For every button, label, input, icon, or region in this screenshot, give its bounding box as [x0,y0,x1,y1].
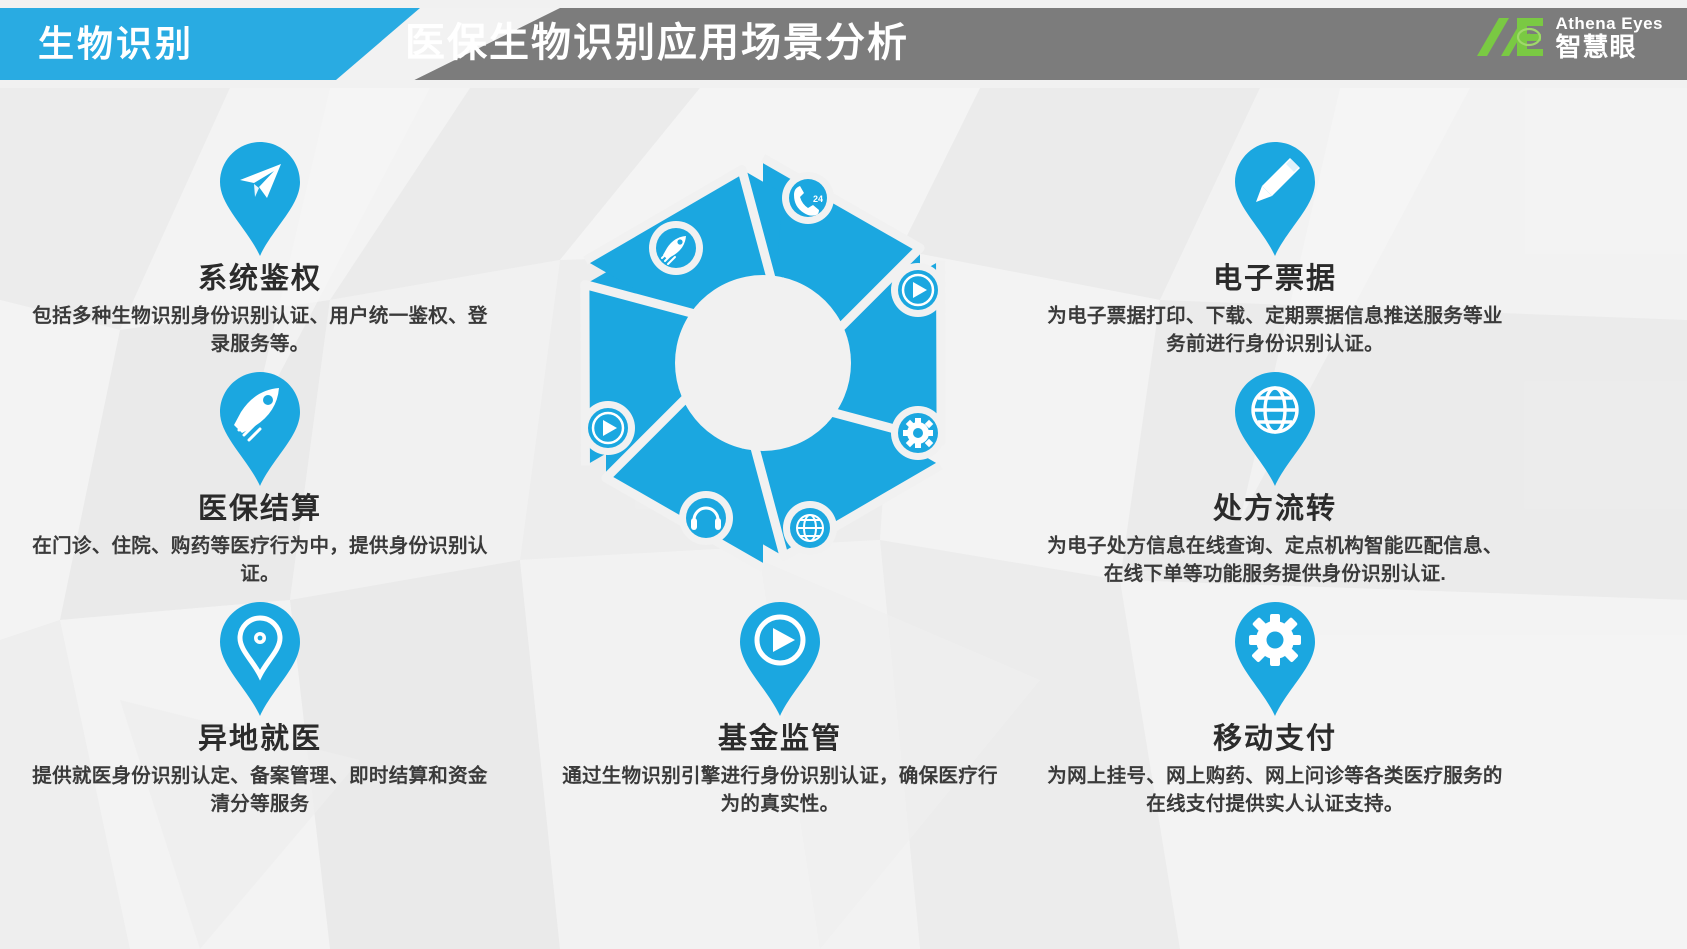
ae-logo-icon [1473,14,1547,60]
paper-plane-icon [217,140,303,258]
phone-24h-icon: 24 [782,172,834,224]
item-desc: 包括多种生物识别身份识别认证、用户统一鉴权、登录服务等。 [30,302,490,358]
item-title: 医保结算 [30,490,490,528]
gear-icon [891,406,945,460]
rocket-icon [649,221,703,275]
logo-en-label: Athena Eyes [1555,15,1663,32]
scene-item-invoice[interactable]: 电子票据 为电子票据打印、下载、定期票据信息推送服务等业务前进行身份识别认证。 [1040,140,1510,358]
play-circle-icon [737,600,823,718]
scene-item-remote[interactable]: 异地就医 提供就医身份识别认定、备案管理、即时结算和资金清分等服务 [30,600,490,818]
item-title: 处方流转 [1040,490,1510,528]
svg-text:24: 24 [813,194,823,204]
scene-item-settle[interactable]: 医保结算 在门诊、住院、购药等医疗行为中，提供身份识别认证。 [30,370,490,588]
scene-item-pay[interactable]: 移动支付 为网上挂号、网上购药、网上问诊等各类医疗服务的在线支付提供实人认证支持… [1040,600,1510,818]
item-title: 异地就医 [30,720,490,758]
scene-item-fund[interactable]: 基金监管 通过生物识别引擎进行身份识别认证，确保医疗行为的真实性。 [560,600,1000,818]
slide-header: 生物识别 医保生物识别应用场景分析 Athena Eyes 智慧眼 [0,0,1687,88]
item-title: 移动支付 [1040,720,1510,758]
item-desc: 在门诊、住院、购药等医疗行为中，提供身份识别认证。 [30,532,490,588]
pencil-icon [1232,140,1318,258]
play-circle-icon [581,401,635,455]
page-title: 医保生物识别应用场景分析 [405,18,909,68]
item-desc: 为网上挂号、网上购药、网上问诊等各类医疗服务的在线支付提供实人认证支持。 [1040,762,1510,818]
logo-cn-label: 智慧眼 [1555,34,1663,60]
item-title: 系统鉴权 [30,260,490,298]
header-tag-label: 生物识别 [38,22,194,66]
item-title: 基金监管 [560,720,1000,758]
map-pin-icon [217,600,303,718]
brand-logo: Athena Eyes 智慧眼 [1473,14,1663,60]
play-circle-icon [891,263,945,317]
scene-item-auth[interactable]: 系统鉴权 包括多种生物识别身份识别认证、用户统一鉴权、登录服务等。 [30,140,490,358]
logo-text: Athena Eyes 智慧眼 [1555,15,1663,60]
item-desc: 为电子票据打印、下载、定期票据信息推送服务等业务前进行身份识别认证。 [1040,302,1510,358]
headphones-icon [679,491,733,545]
rocket-icon [217,370,303,488]
hexagon-pinwheel-diagram: 24 [528,128,998,598]
globe-icon [1232,370,1318,488]
globe-icon [783,501,837,555]
gear-icon [1232,600,1318,718]
slide-canvas: 生物识别 医保生物识别应用场景分析 Athena Eyes 智慧眼 [0,0,1687,949]
item-desc: 提供就医身份识别认定、备案管理、即时结算和资金清分等服务 [30,762,490,818]
item-title: 电子票据 [1040,260,1510,298]
item-desc: 通过生物识别引擎进行身份识别认证，确保医疗行为的真实性。 [560,762,1000,818]
item-desc: 为电子处方信息在线查询、定点机构智能匹配信息、在线下单等功能服务提供身份识别认证… [1040,532,1510,588]
scene-item-rx[interactable]: 处方流转 为电子处方信息在线查询、定点机构智能匹配信息、在线下单等功能服务提供身… [1040,370,1510,588]
